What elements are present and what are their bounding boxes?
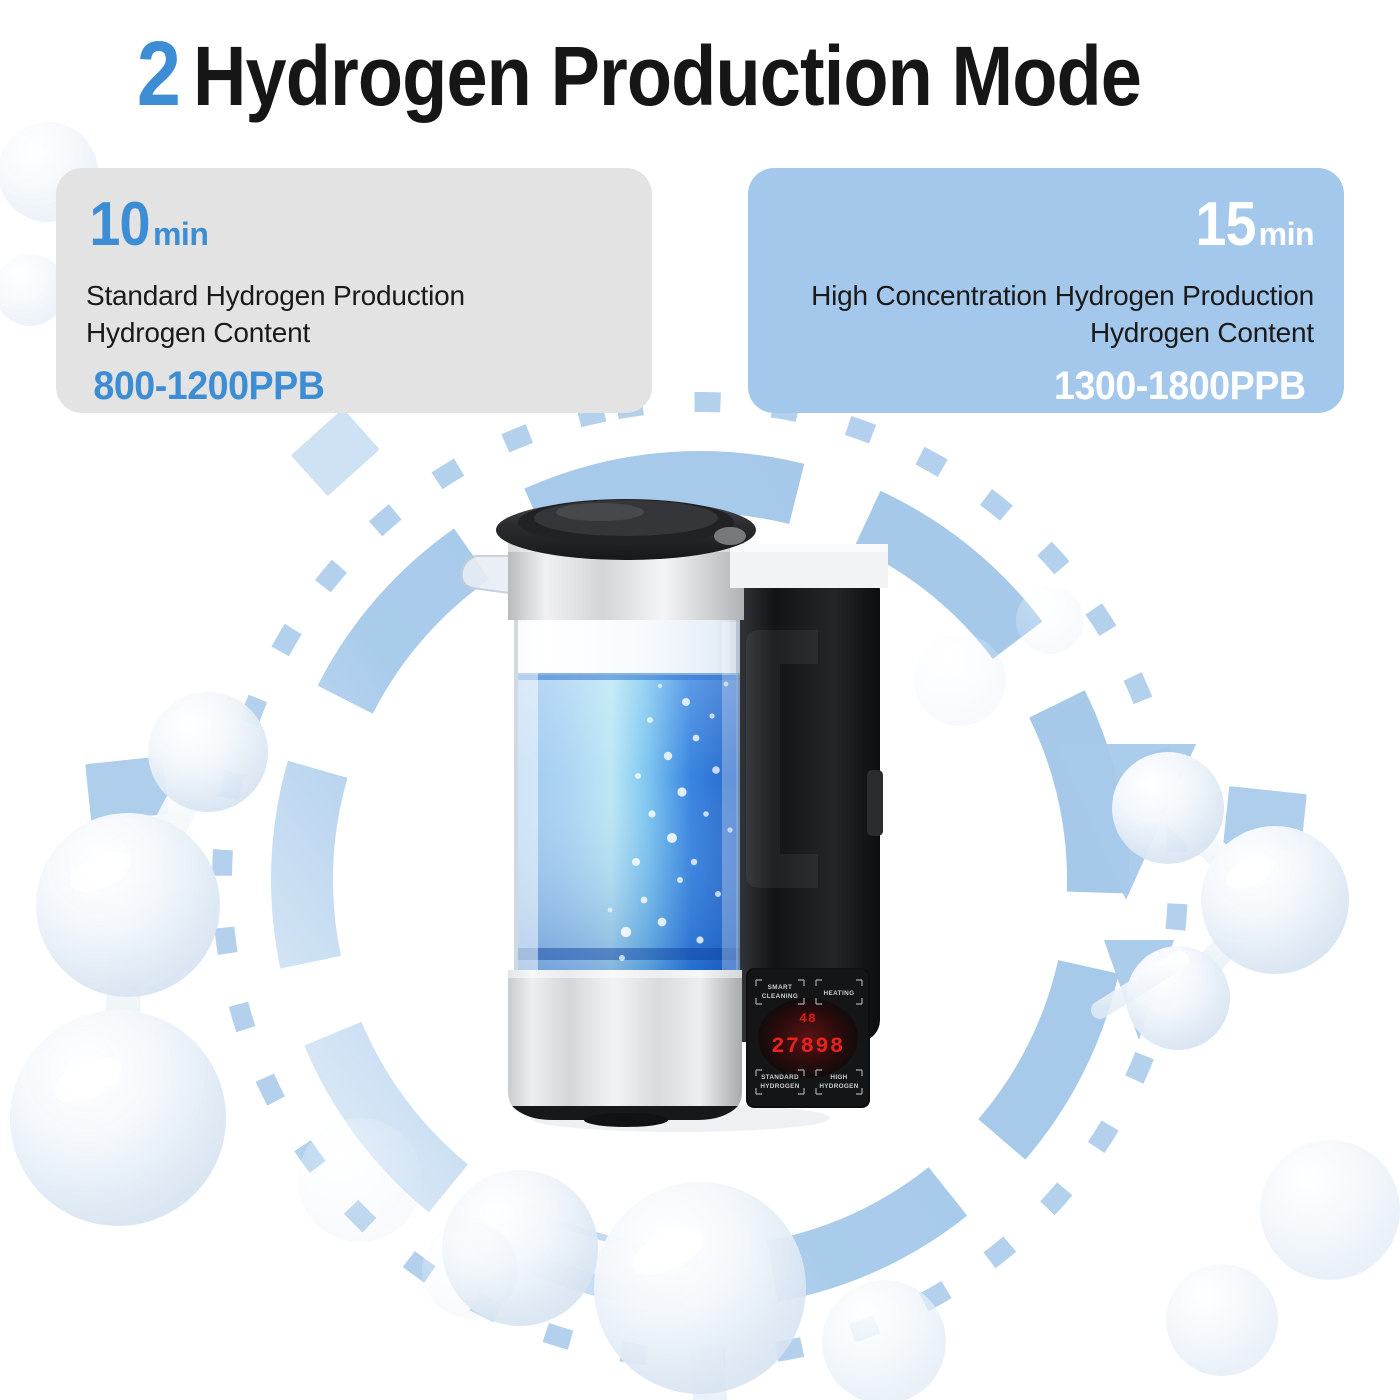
button-smart-cleaning-label-line2: CLEANING	[762, 993, 799, 1000]
page-header: 2 Hydrogen Production Mode	[0, 28, 1400, 120]
lid-hinge	[714, 527, 746, 545]
mode-duration-unit: min	[1259, 216, 1314, 252]
button-high-hydrogen-label-line2: HYDROGEN	[819, 1083, 858, 1090]
led-display-small: 48	[799, 1011, 817, 1026]
mode-duration: 15min	[778, 194, 1314, 256]
mode-card-high-concentration: 15min High Concentration Hydrogen Produc…	[748, 168, 1344, 413]
mode-cards: 10min Standard Hydrogen Production Hydro…	[0, 168, 1400, 413]
mode-duration: 10min	[86, 194, 622, 256]
mode-duration-value: 10	[89, 194, 149, 256]
mode-duration-value: 15	[1195, 194, 1255, 256]
button-standard-hydrogen-label-line2: HYDROGEN	[760, 1083, 799, 1090]
water-volume	[518, 673, 740, 970]
kettle-glass-body	[514, 620, 740, 972]
page-title: Hydrogen Production Mode	[193, 34, 1141, 118]
product-image-hydrogen-kettle: 48 27898 SMART CLEANING HEATING STANDARD…	[430, 470, 990, 1170]
button-high-hydrogen-label-line1: HIGH	[830, 1074, 847, 1081]
hydrogen-content-value: 800-1200PPB	[93, 364, 324, 409]
button-heating-label: HEATING	[823, 990, 854, 997]
step-number: 2	[137, 28, 179, 120]
kettle-base	[508, 970, 742, 1127]
molecule-cluster-bottom	[442, 1170, 946, 1400]
mode-card-standard: 10min Standard Hydrogen Production Hydro…	[56, 168, 652, 413]
mode-description-line1: High Concentration Hydrogen Production	[778, 278, 1314, 315]
mode-description-line2: Hydrogen Content	[86, 315, 622, 352]
led-display: 48 27898	[758, 998, 858, 1078]
control-panel: 48 27898 SMART CLEANING HEATING STANDARD…	[746, 968, 870, 1108]
water-surface-line	[518, 673, 740, 680]
handle-side-button[interactable]	[867, 770, 883, 836]
mode-description-line1: Standard Hydrogen Production	[86, 278, 622, 315]
hydrogen-content-value: 1300-1800PPB	[1054, 364, 1305, 409]
kettle-spout	[462, 556, 516, 594]
button-smart-cleaning-label-line1: SMART	[768, 984, 793, 991]
mode-description-line2: Hydrogen Content	[778, 315, 1314, 352]
button-standard-hydrogen-label-line1: STANDARD	[761, 1074, 799, 1081]
led-display-main: 27898	[771, 1034, 845, 1059]
kettle-lid[interactable]	[496, 499, 756, 560]
mode-duration-unit: min	[153, 216, 208, 252]
